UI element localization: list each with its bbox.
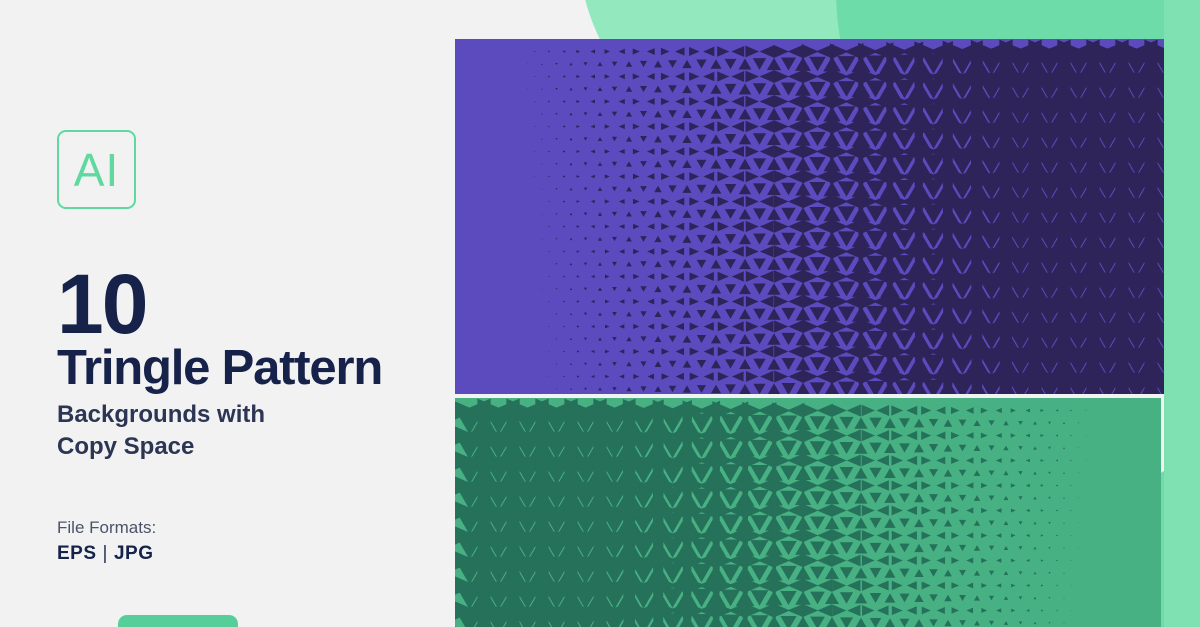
preview-purple-triangle-pattern [455,39,1164,394]
info-column: AI 10 Tringle Pattern Backgrounds with C… [57,0,457,627]
subtitle-line-1: Backgrounds with [57,399,265,431]
ai-badge-label: AI [74,147,119,193]
purple-pattern-svg [455,39,1164,394]
format-eps: EPS [57,543,97,564]
cta-button[interactable] [118,615,238,627]
item-count: 10 [57,262,146,346]
ai-format-badge: AI [57,130,136,209]
poster-canvas: AI 10 Tringle Pattern Backgrounds with C… [0,0,1200,627]
decor-band-right [1164,0,1200,627]
preview-green-triangle-pattern [455,398,1161,627]
file-formats-value: EPS|JPG [57,543,154,565]
green-pattern-svg [455,398,1161,627]
subtitle-line-2: Copy Space [57,431,265,463]
page-subtitle: Backgrounds with Copy Space [57,399,265,463]
format-jpg: JPG [114,543,154,564]
file-formats-label: File Formats: [57,518,156,538]
page-title: Tringle Pattern [57,344,382,393]
format-separator: | [97,543,114,564]
